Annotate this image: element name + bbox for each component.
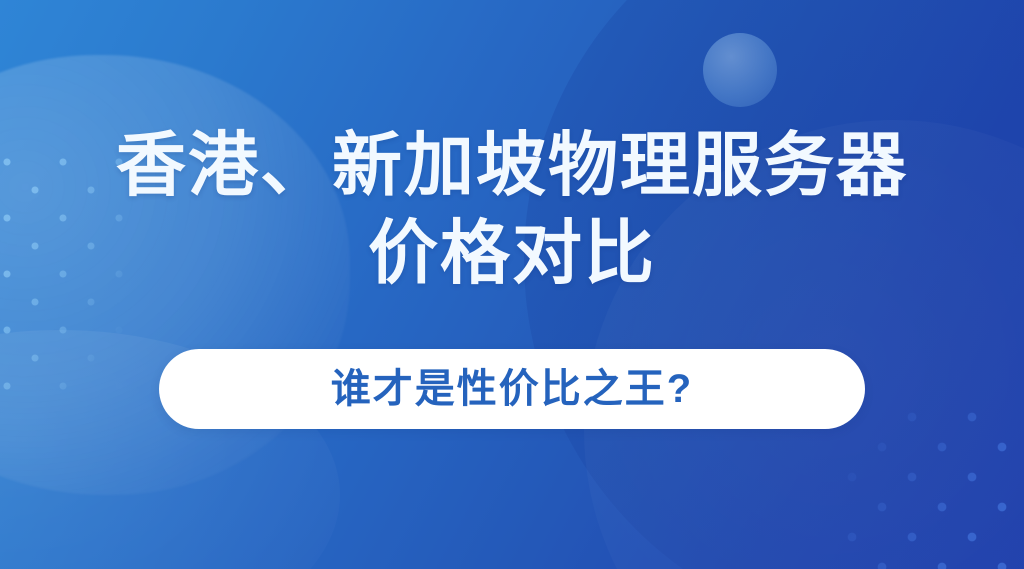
headline-line-2: 价格对比: [0, 211, 1024, 295]
headline-line-1: 香港、新加坡物理服务器: [0, 123, 1024, 207]
banner-content: 香港、新加坡物理服务器 价格对比 谁才是性价比之王?: [0, 0, 1024, 569]
promo-banner: 香港、新加坡物理服务器 价格对比 谁才是性价比之王?: [0, 0, 1024, 569]
cta-pill-label: 谁才是性价比之王?: [331, 369, 693, 409]
cta-pill-button[interactable]: 谁才是性价比之王?: [159, 349, 865, 429]
